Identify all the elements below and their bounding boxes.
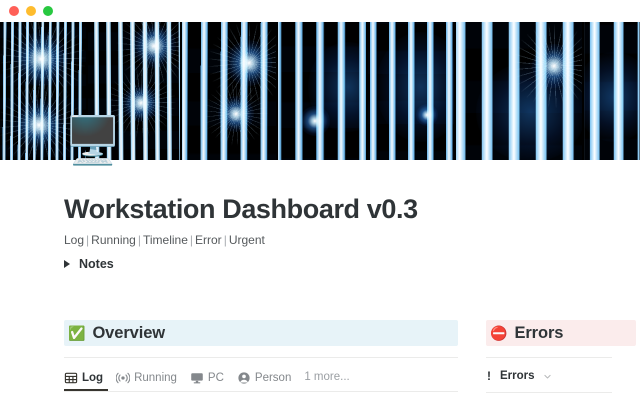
overview-divider [64,357,458,358]
subtitle-item-urgent[interactable]: Urgent [229,233,265,247]
subtitle-separator: | [222,233,229,247]
window-titlebar [0,0,640,22]
subtitle-item-running[interactable]: Running [91,233,136,247]
window-zoom-button[interactable] [43,6,53,16]
subtitle-item-error[interactable]: Error [195,233,222,247]
tab-pc-label: PC [208,372,224,384]
person-icon [237,371,251,385]
tab-person-label: Person [255,372,291,384]
tab-log-label: Log [82,372,103,384]
page-body: Workstation Dashboard v0.3 Log|Running|T… [0,160,640,400]
subtitle-separator: | [136,233,143,247]
tab-running-label: Running [134,372,177,384]
overview-heading[interactable]: ✅ Overview [64,320,458,346]
table-icon [64,371,78,385]
tab-more-views[interactable]: 1 more... [304,368,349,391]
page-title[interactable]: Workstation Dashboard v0.3 [64,193,418,225]
errors-group-label: Errors [500,369,535,383]
white-check-mark-emoji: ✅ [68,325,85,341]
window-minimize-button[interactable] [26,6,36,16]
subtitle-item-log[interactable]: Log [64,233,84,247]
desktop-icon [190,371,204,385]
tab-pc[interactable]: PC [190,368,224,391]
errors-column: ⛔ Errors ! Errors [486,320,640,400]
subtitle-separator: | [188,233,195,247]
page-subtitle: Log|Running|Timeline|Error|Urgent [64,232,265,248]
errors-group-divider [486,392,612,393]
cover-panel-6 [456,22,582,160]
window-close-button[interactable] [9,6,19,16]
tab-person[interactable]: Person [237,368,291,391]
chevron-down-icon[interactable] [543,372,552,381]
desktop-computer-emoji[interactable]: 🖥️ [64,113,118,167]
cover-panel-5 [368,22,454,160]
tab-log[interactable]: Log [64,368,103,391]
overview-column: ✅ Overview Log [64,320,458,392]
no-entry-emoji: ⛔ [490,325,507,341]
errors-title: Errors [514,323,563,343]
exclamation-icon: ! [486,369,492,383]
overview-title: Overview [92,323,165,343]
broadcast-icon [116,371,130,385]
errors-heading[interactable]: ⛔ Errors [486,320,636,346]
tab-running[interactable]: Running [116,368,177,391]
cover-panel-3 [182,22,276,160]
errors-divider [486,357,612,358]
notion-page-window: 🖥️ Workstation Dashboard v0.3 Log|Runnin… [0,0,640,400]
errors-group-row[interactable]: ! Errors [486,367,640,385]
subtitle-item-timeline[interactable]: Timeline [143,233,188,247]
notes-toggle[interactable]: Notes [64,254,114,274]
notes-toggle-label: Notes [79,256,114,272]
cover-panel-7 [584,22,640,160]
toggle-triangle-icon[interactable] [64,260,70,268]
view-tabs-divider [64,391,458,392]
cover-panel-4 [278,22,366,160]
database-view-tabs: Log Running [64,366,458,391]
